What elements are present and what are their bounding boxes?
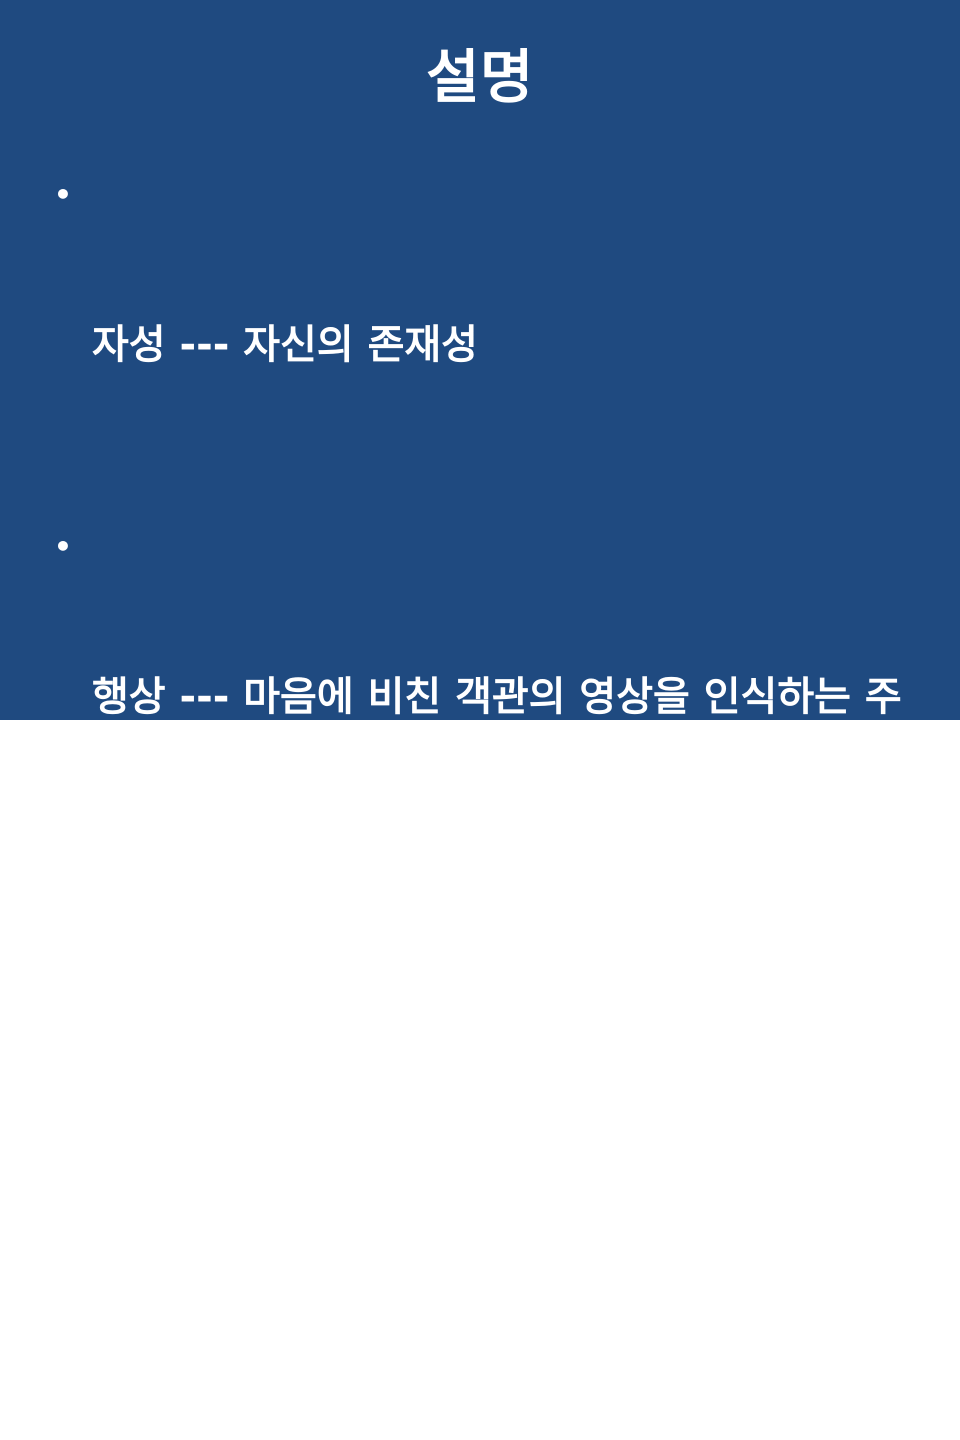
bullet-list: • 자성 --- 자신의 존재성 • 행상 --- 마음에 비친 객관의 영상을…	[48, 170, 910, 1440]
empty-list-item	[48, 872, 910, 922]
list-item-label: 정우성	[92, 1212, 910, 1262]
list-item[interactable]: • 정우성	[48, 1062, 910, 1362]
slide-canvas: 설명 • 자성 --- 자신의 존재성 • 행상 --- 마음에 비친 객관의 …	[0, 0, 960, 720]
list-item-label: 자성 --- 자신의 존재성	[92, 320, 910, 370]
bullet-disc-icon: •	[54, 1062, 74, 1112]
list-item[interactable]: • 자성 --- 자신의 존재성	[48, 170, 910, 470]
list-item[interactable]: • 행상 --- 마음에 비친 객관의 영상을 인식하는 주관의 작용	[48, 522, 910, 872]
bullet-disc-icon: •	[54, 170, 74, 220]
list-item-label: 행상 --- 마음에 비친 객관의 영상을 인식하는 주관의 작용	[92, 672, 910, 772]
list-item[interactable]: • 빠담빠담 -그와 그녀의 심장박동소리	[48, 1370, 910, 1440]
page-title: 설명	[0, 46, 960, 110]
bullet-disc-icon: •	[54, 1370, 74, 1420]
bullet-disc-icon: •	[54, 522, 74, 572]
